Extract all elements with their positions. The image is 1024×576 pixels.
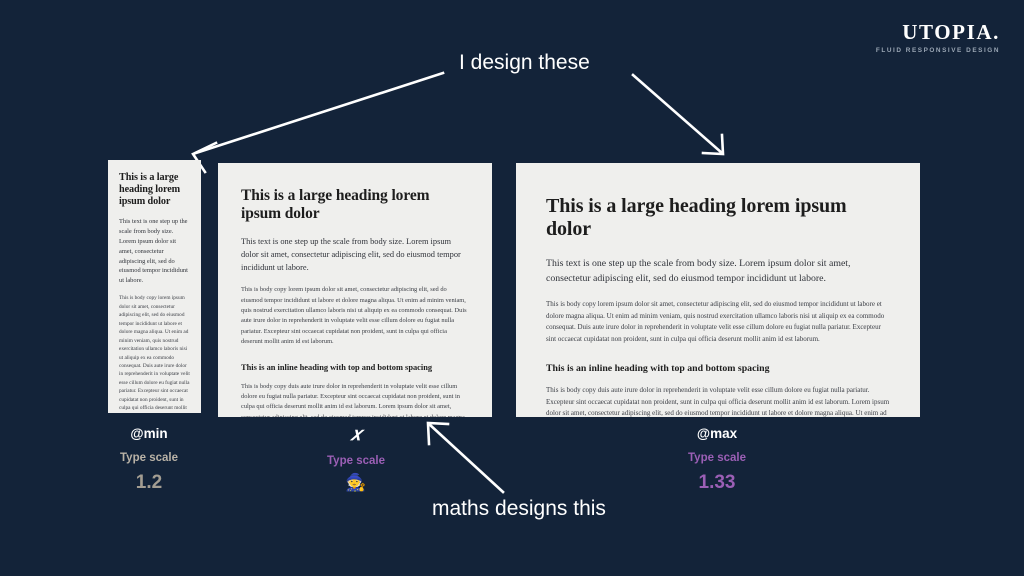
arrow-bottom-shaft [429, 424, 503, 492]
annotation-i-design-these: I design these [459, 52, 590, 73]
card-mid-lede: This text is one step up the scale from … [241, 235, 469, 274]
card-min-content: This is a large heading lorem ipsum dolo… [108, 160, 201, 413]
card-max-body-1: This is body copy lorem ipsum dolor sit … [546, 299, 890, 345]
caption-max-label: Type scale [646, 453, 788, 465]
type-specimen-card-min[interactable]: This is a large heading lorem ipsum dolo… [108, 160, 201, 413]
annotation-maths-designs-this: maths designs this [432, 498, 606, 519]
card-max-heading: This is a large heading lorem ipsum dolo… [546, 195, 890, 242]
type-specimen-card-max[interactable]: This is a large heading lorem ipsum dolo… [516, 163, 920, 417]
caption-min-key: @min [78, 427, 220, 441]
card-min-lede: This text is one step up the scale from … [119, 217, 190, 286]
caption-max-value: 1.33 [646, 473, 788, 492]
card-min-heading: This is a large heading lorem ipsum dolo… [119, 172, 190, 208]
arrow-right-head [703, 135, 723, 154]
card-min-body-1: This is body copy lorem ipsum dolor sit … [119, 294, 190, 413]
arrow-bottom-head [428, 423, 448, 444]
slide-canvas: UTOPIA. FLUID RESPONSIVE DESIGN I design… [0, 0, 1024, 576]
card-max-lede: This text is one step up the scale from … [546, 256, 890, 286]
brand-tagline: FLUID RESPONSIVE DESIGN [876, 48, 1000, 54]
card-max-content: This is a large heading lorem ipsum dolo… [516, 163, 920, 417]
arrow-left-shaft [196, 73, 443, 153]
card-max-body-2: This is body copy duis aute irure dolor … [546, 385, 890, 417]
caption-min-label: Type scale [78, 453, 220, 465]
card-mid-subheading: This is an inline heading with top and b… [241, 363, 469, 373]
caption-min: @min Type scale 1.2 [78, 427, 220, 492]
brand-name: UTOPIA. [876, 22, 1000, 43]
caption-mid: 𝑥 Type scale 🧙 [286, 425, 426, 491]
card-mid-content: This is a large heading lorem ipsum dolo… [218, 163, 492, 417]
type-specimen-card-mid[interactable]: This is a large heading lorem ipsum dolo… [218, 163, 492, 417]
arrow-right-shaft [633, 75, 722, 153]
caption-mid-label: Type scale [286, 456, 426, 468]
brand-lockup: UTOPIA. FLUID RESPONSIVE DESIGN [876, 22, 1000, 54]
card-mid-body-2: This is body copy duis aute irure dolor … [241, 382, 469, 417]
card-mid-heading: This is a large heading lorem ipsum dolo… [241, 187, 469, 223]
caption-max-key: @max [646, 427, 788, 441]
caption-mid-key-x-variable: 𝑥 [286, 425, 426, 444]
card-mid-body-1: This is body copy lorem ipsum dolor sit … [241, 285, 469, 347]
wizard-emoji-icon: 🧙 [286, 474, 426, 491]
card-max-subheading: This is an inline heading with top and b… [546, 363, 890, 375]
caption-max: @max Type scale 1.33 [646, 427, 788, 492]
caption-min-value: 1.2 [78, 473, 220, 492]
